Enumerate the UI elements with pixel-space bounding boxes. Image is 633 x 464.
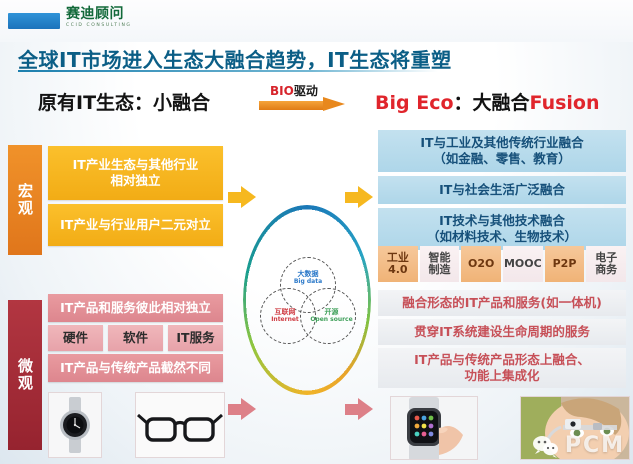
venn-opensource-en: Open source	[310, 316, 352, 324]
headline-right-cn: ：大融合	[454, 92, 530, 114]
right-red-box-1: 融合形态的IT产品和服务(如一体机)	[378, 290, 626, 316]
smartwatch-photo	[390, 396, 478, 460]
right-blue-box-1: IT与工业及其他传统行业融合 （如金融、零售、教育）	[378, 130, 626, 172]
brand-name-cn: 赛迪顾问	[66, 7, 156, 22]
micro-tag-itservice: IT服务	[168, 325, 223, 351]
micro-section-label: 微观	[8, 300, 42, 450]
bio-driver-en: BIO	[270, 84, 294, 98]
arrow-micro-to-center-icon	[228, 398, 256, 420]
bio-arrow-icon	[259, 99, 345, 112]
micro-label-text: 微观	[15, 358, 35, 392]
right-red-box-3: IT产品与传统产品形态上融合、 功能上集成化	[378, 348, 626, 388]
fusion-oval: 大数据 Big data 互联网 Internet 开源 Open source	[243, 205, 371, 395]
headline-right: Big Eco：大融合Fusion	[375, 88, 600, 115]
venn-internet-en: Internet	[271, 316, 299, 324]
brand-mark-icon	[8, 13, 60, 29]
right-blue-box-3: IT技术与其他技术融合 （如材料技术、生物技术）	[378, 208, 626, 250]
bio-driver-label: BIO驱动	[270, 82, 318, 99]
arrow-center-to-right-icon	[345, 186, 373, 208]
bio-driver-cn: 驱动	[294, 84, 318, 98]
micro-title-box: IT产品和服务彼此相对独立	[48, 294, 223, 322]
wristwatch-photo	[48, 392, 102, 458]
right-red-box-2: 贯穿IT系统建设生命周期的服务	[378, 319, 626, 345]
venn-internet-cn: 互联网	[271, 308, 299, 316]
macro-section-label: 宏观	[8, 145, 42, 255]
arrow-macro-to-center-icon	[228, 186, 256, 208]
eyeglasses-photo	[135, 392, 225, 458]
micro-tag-software: 软件	[108, 325, 163, 351]
header-bar: 赛迪顾问 CCID CONSULTING	[0, 0, 633, 42]
tag-ecommerce[interactable]: 电子 商务	[586, 246, 626, 282]
brand-name-en: CCID CONSULTING	[66, 22, 156, 29]
tag-o2o[interactable]: O2O	[461, 246, 501, 282]
headline-right-bigeco: Big Eco	[375, 92, 454, 114]
page-title: 全球IT市场进入生态大融合趋势，IT生态将重塑	[18, 44, 618, 73]
macro-box-1: IT产业生态与其他行业 相对独立	[48, 146, 223, 200]
tech-tag-row: 工业 4.0 智能 制造 O2O MOOC P2P 电子 商务	[378, 246, 626, 282]
watermark-text: PCM	[565, 433, 625, 458]
arrow-center-to-right-lower-icon	[345, 398, 373, 420]
venn-opensource-cn: 开源	[310, 308, 352, 316]
right-blue-box-2: IT与社会生活广泛融合	[378, 176, 626, 204]
headline-right-fusion: Fusion	[530, 92, 600, 114]
macro-box-2: IT产业与行业用户二元对立	[48, 204, 223, 246]
title-underline	[18, 70, 438, 72]
tag-smart-mfg[interactable]: 智能 制造	[420, 246, 460, 282]
tag-industry40[interactable]: 工业 4.0	[378, 246, 418, 282]
watermark: PCM	[531, 433, 625, 458]
tag-mooc[interactable]: MOOC	[503, 246, 543, 282]
slide-canvas: 赛迪顾问 CCID CONSULTING 全球IT市场进入生态大融合趋势，IT生…	[0, 0, 633, 464]
headline-left: 原有IT生态：小融合	[38, 88, 210, 115]
venn-bigdata-en: Big data	[294, 278, 322, 286]
macro-label-text: 宏观	[15, 183, 35, 217]
brand-logo: 赛迪顾问 CCID CONSULTING	[66, 7, 156, 29]
tag-p2p[interactable]: P2P	[545, 246, 585, 282]
venn-circle-opensource: 开源 Open source	[300, 288, 356, 344]
venn-bigdata-cn: 大数据	[294, 270, 322, 278]
venn-diagram: 大数据 Big data 互联网 Internet 开源 Open source	[260, 257, 356, 345]
micro-tag-hardware: 硬件	[48, 325, 103, 351]
wechat-icon	[531, 434, 561, 458]
micro-bottom-box: IT产品与传统产品截然不同	[48, 354, 223, 382]
